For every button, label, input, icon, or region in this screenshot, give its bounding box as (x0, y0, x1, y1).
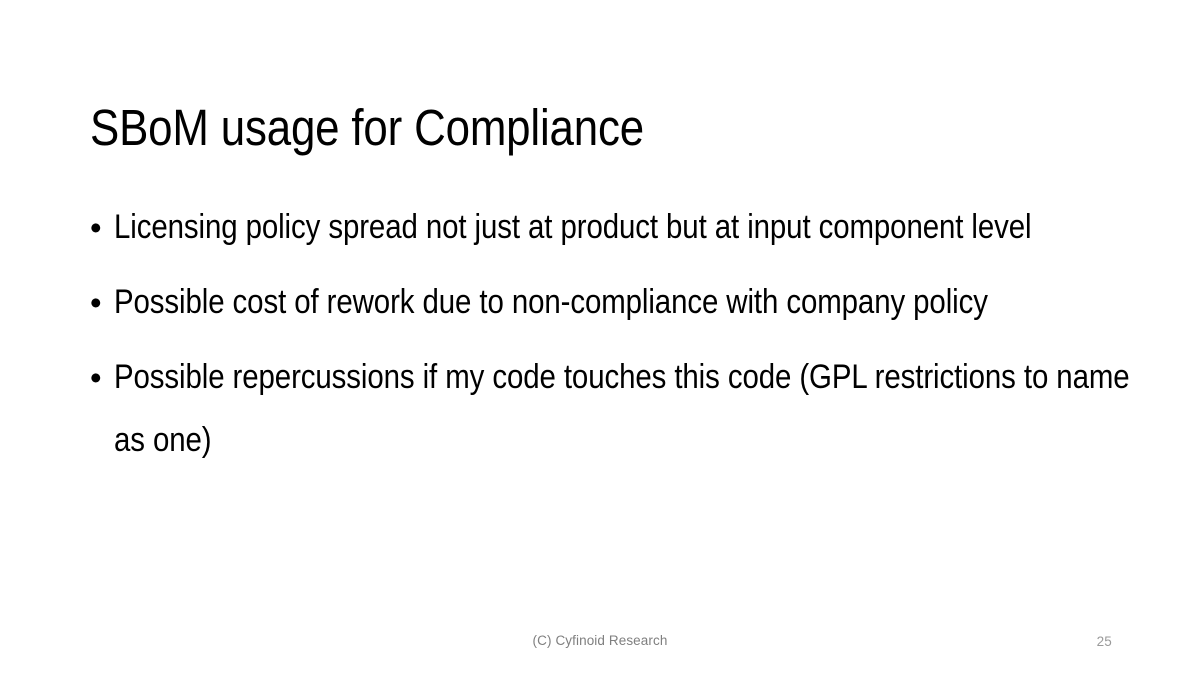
list-item: • Possible cost of rework due to non-com… (90, 271, 1130, 334)
page-number: 25 (1097, 634, 1112, 649)
page-title: SBoM usage for Compliance (90, 98, 967, 158)
bullet-list: • Licensing policy spread not just at pr… (90, 196, 1130, 484)
presentation-slide: SBoM usage for Compliance • Licensing po… (0, 0, 1200, 675)
bullet-text: Possible repercussions if my code touche… (114, 346, 1130, 472)
bullet-text: Licensing policy spread not just at prod… (114, 196, 1130, 259)
bullet-point-icon: • (90, 271, 114, 334)
list-item: • Licensing policy spread not just at pr… (90, 196, 1130, 259)
bullet-point-icon: • (90, 346, 114, 409)
footer-copyright: (C) Cyfinoid Research (0, 633, 1200, 648)
bullet-text: Possible cost of rework due to non-compl… (114, 271, 1130, 334)
list-item: • Possible repercussions if my code touc… (90, 346, 1130, 472)
bullet-point-icon: • (90, 196, 114, 259)
